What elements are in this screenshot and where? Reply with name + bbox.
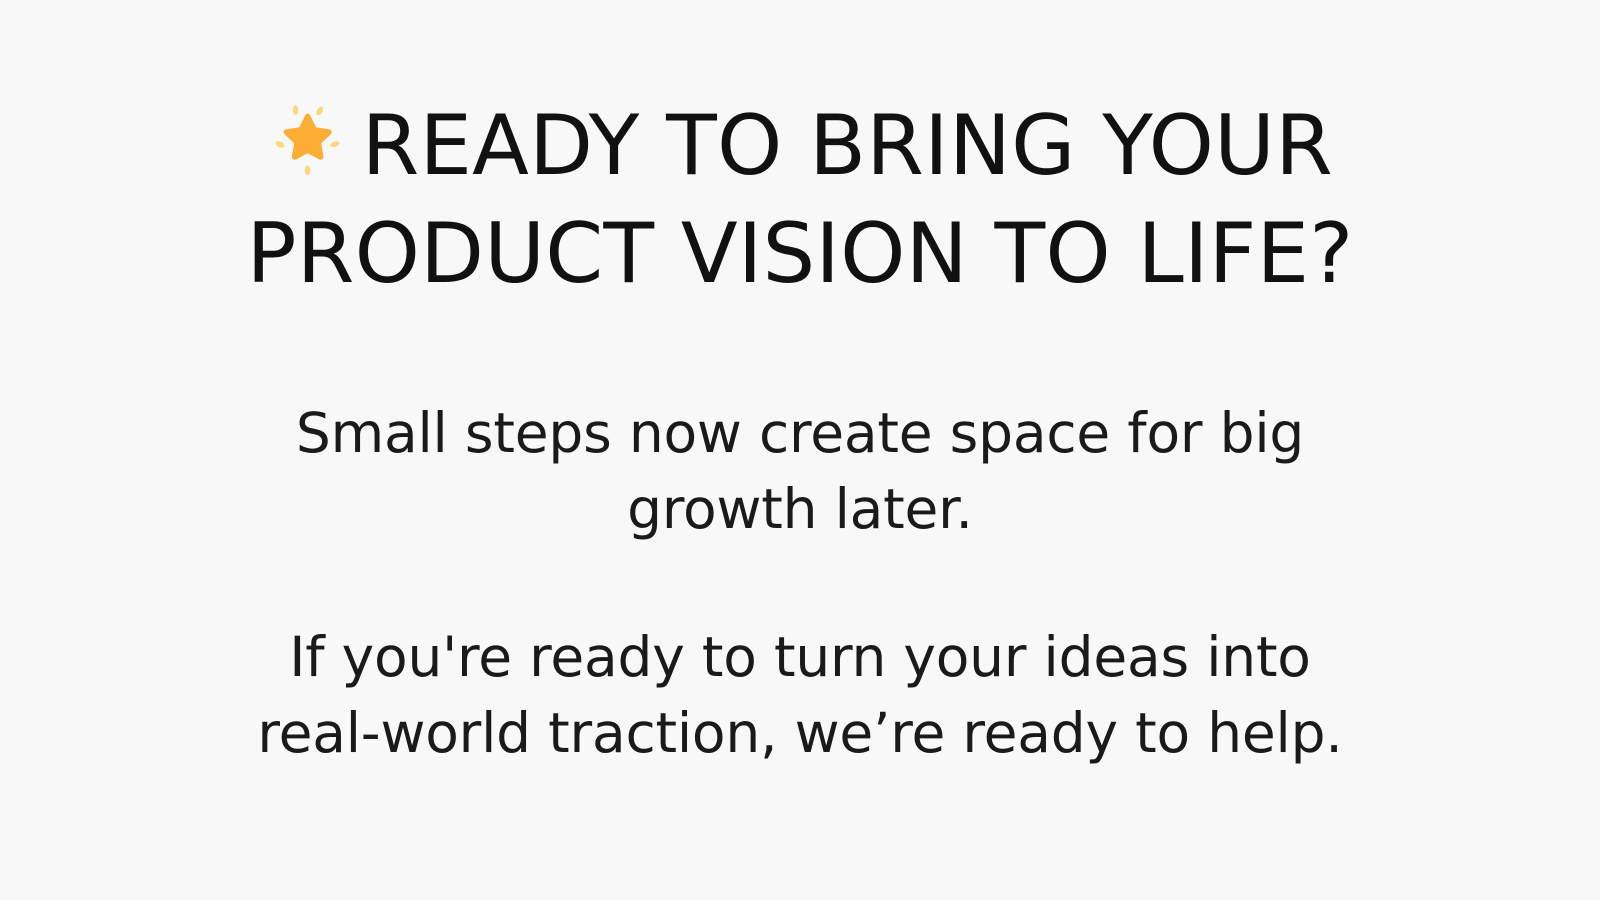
heading-line-1: READY TO BRING YOUR [0, 92, 1600, 200]
body-paragraph-2-line-2: real-world traction, we’re ready to help… [257, 701, 1342, 765]
page-title: READY TO BRING YOUR PRODUCT VISION TO LI… [0, 92, 1600, 308]
body-paragraph-1-line-2: growth later. [627, 477, 973, 541]
paragraph-spacer [250, 547, 1350, 619]
body-copy: Small steps now create space for big gro… [250, 395, 1350, 771]
heading-line-2: PRODUCT VISION TO LIFE? [0, 200, 1600, 308]
body-paragraph-1-line-1: Small steps now create space for big [296, 401, 1304, 465]
body-paragraph-1: Small steps now create space for big gro… [250, 395, 1350, 547]
body-paragraph-2: If you're ready to turn your ideas into … [250, 619, 1350, 771]
slide-canvas: READY TO BRING YOUR PRODUCT VISION TO LI… [0, 0, 1600, 900]
glowing-star-icon [267, 100, 348, 181]
heading-line-1-text: READY TO BRING YOUR [362, 97, 1333, 194]
heading-line-2-text: PRODUCT VISION TO LIFE? [247, 205, 1354, 302]
body-paragraph-2-line-1: If you're ready to turn your ideas into [289, 625, 1311, 689]
